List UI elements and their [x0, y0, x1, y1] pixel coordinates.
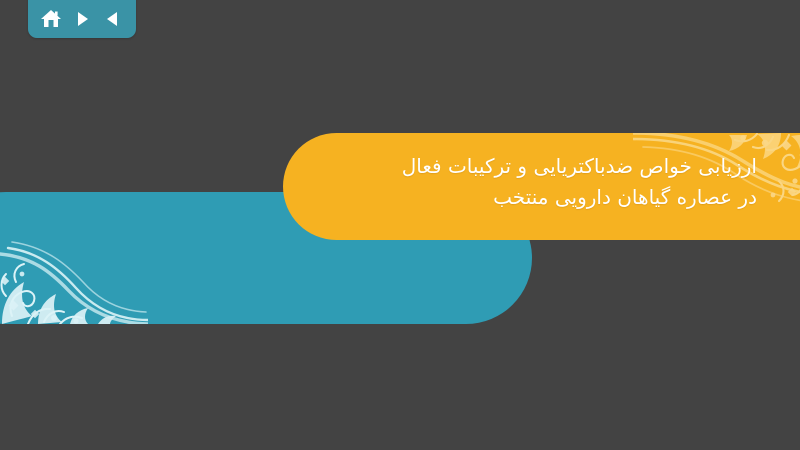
slide-title: ارزیابی خواص ضدباکتریایی و ترکیبات فعال …: [323, 151, 757, 213]
home-icon: [40, 9, 62, 29]
title-line-2: در عصاره گیاهان دارویی منتخب: [323, 182, 757, 213]
slide-navigation-bar[interactable]: [28, 0, 136, 38]
back-icon: [104, 10, 122, 28]
forward-icon: [73, 10, 91, 28]
title-line-1: ارزیابی خواص ضدباکتریایی و ترکیبات فعال: [323, 151, 757, 182]
arabesque-ornament: [0, 212, 148, 324]
home-button[interactable]: [38, 6, 64, 32]
presentation-slide: ارزیابی خواص ضدباکتریایی و ترکیبات فعال …: [0, 0, 800, 450]
orange-title-panel: ارزیابی خواص ضدباکتریایی و ترکیبات فعال …: [283, 133, 800, 240]
back-button[interactable]: [100, 6, 126, 32]
forward-button[interactable]: [69, 6, 95, 32]
